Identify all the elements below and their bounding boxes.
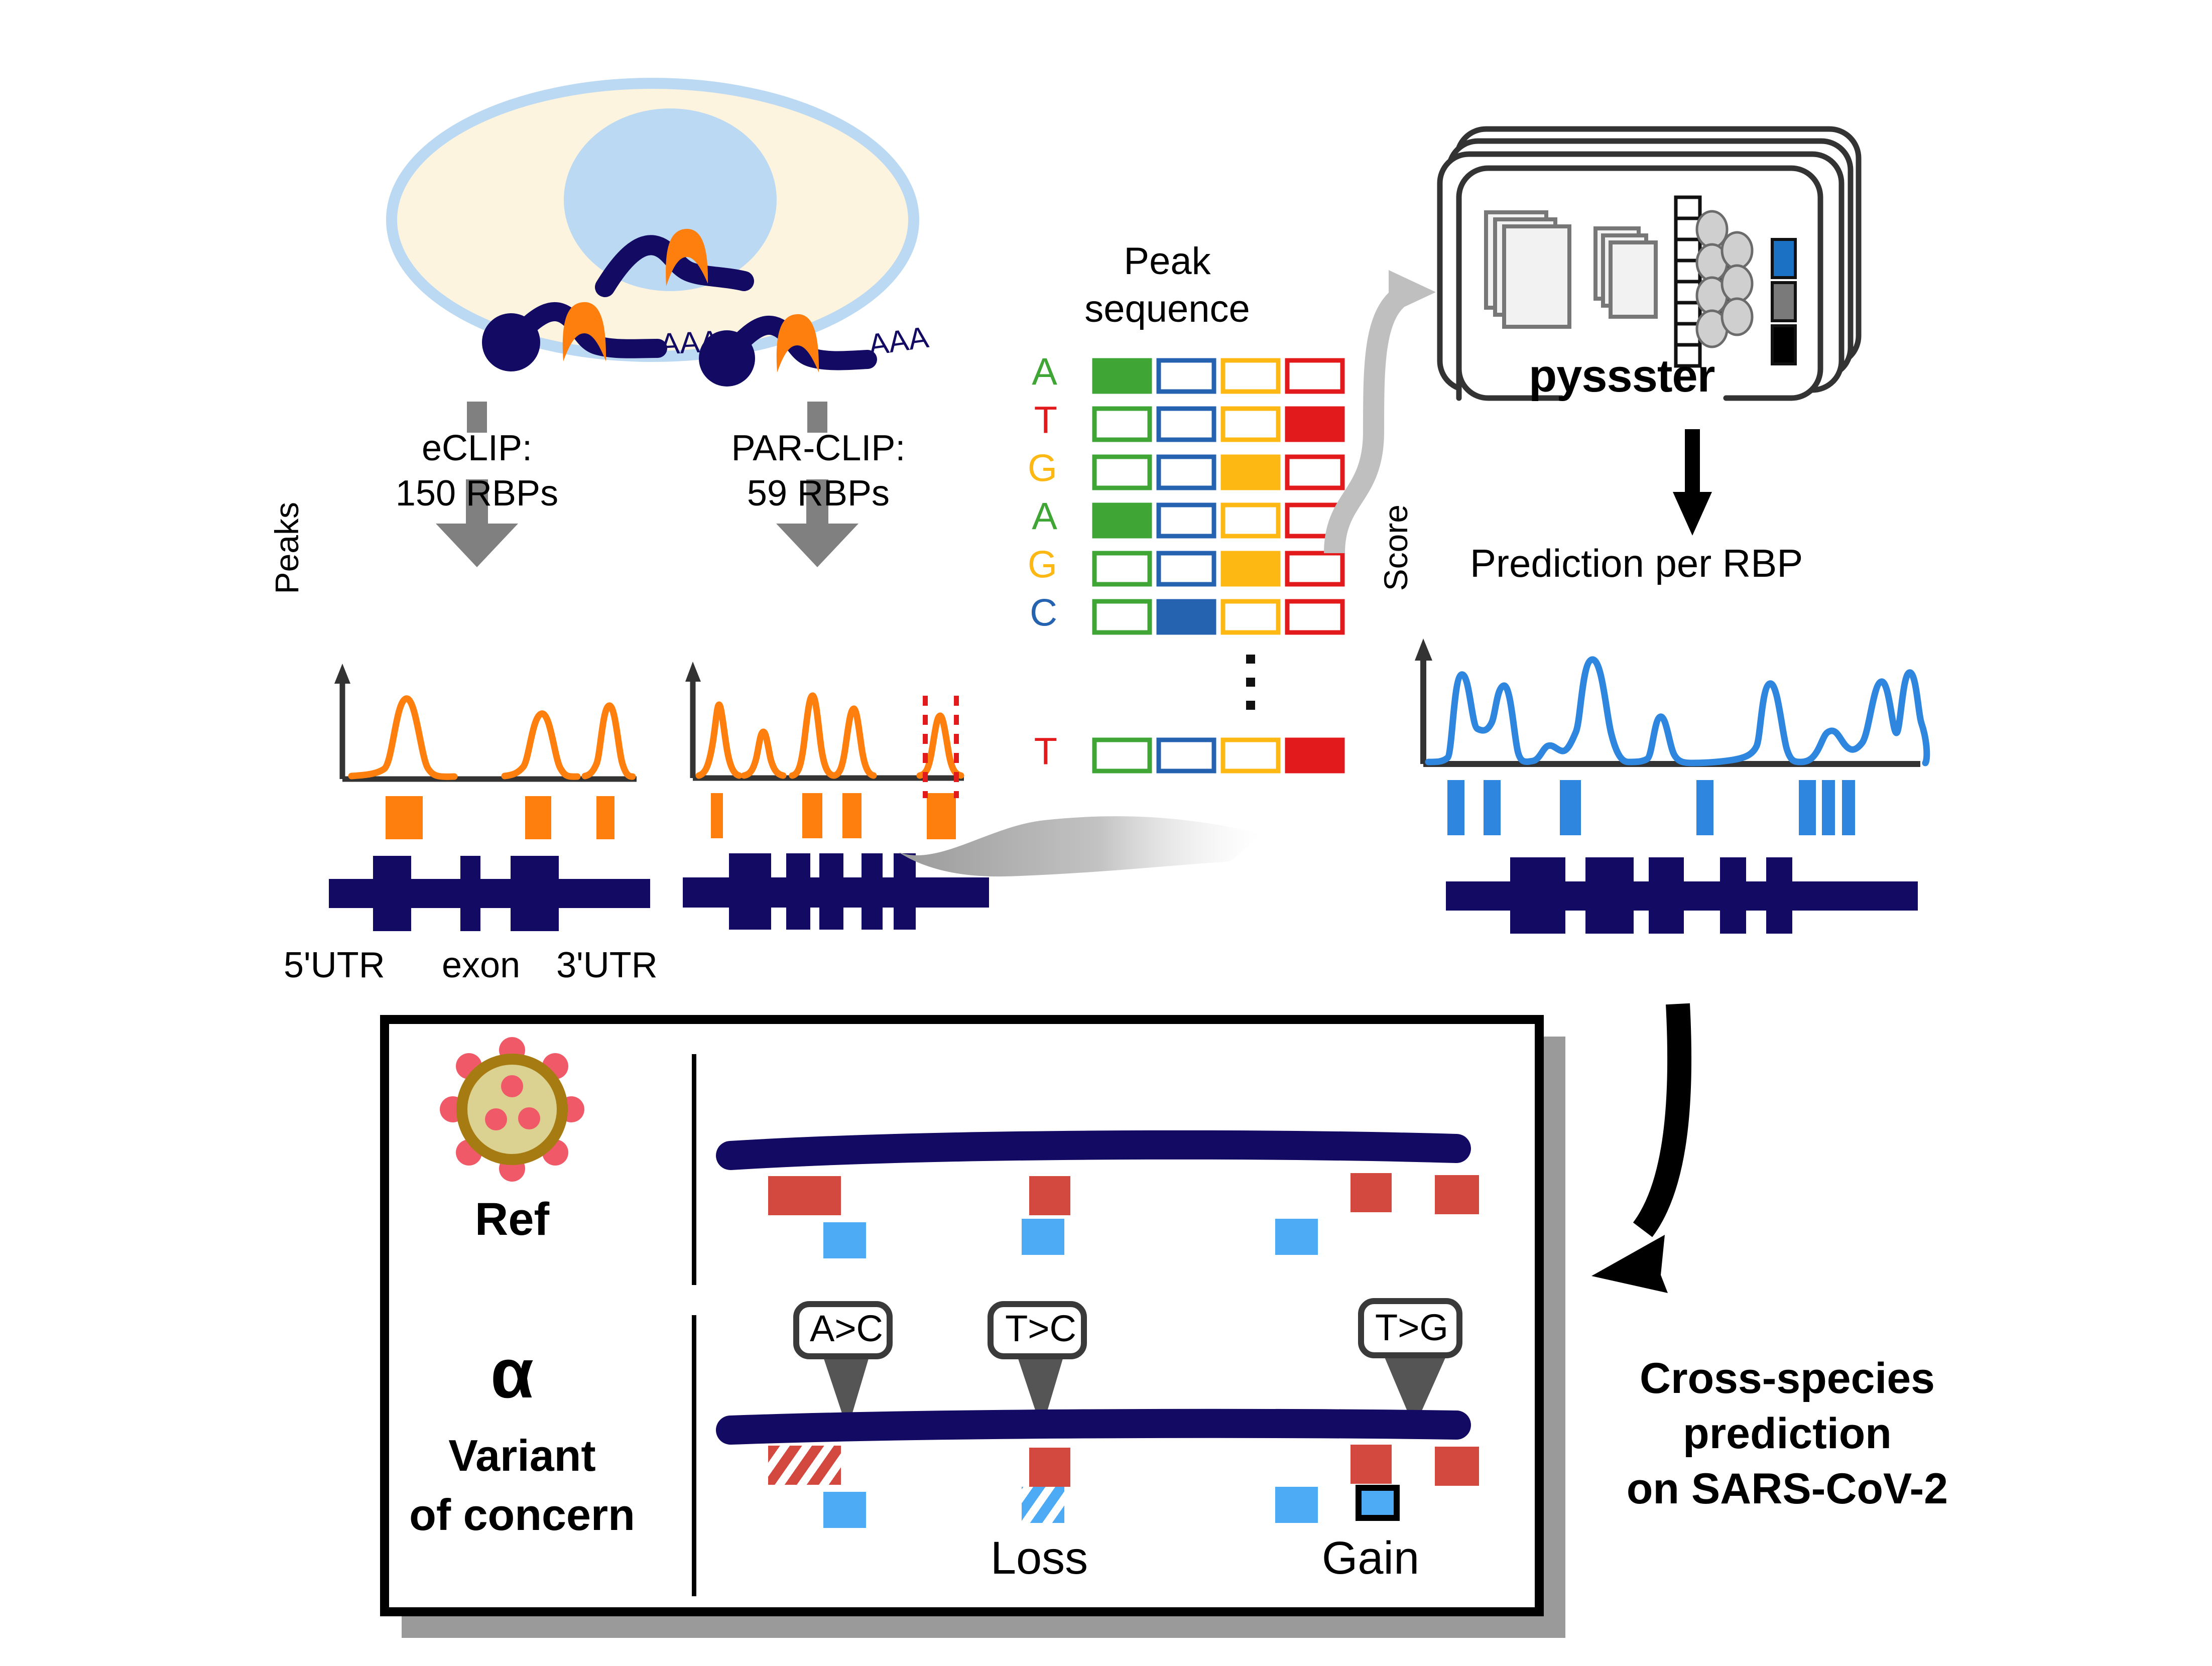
exon-3utr	[511, 856, 559, 931]
variant-label-line1: Variant	[417, 1432, 628, 1479]
variant-label-line2: of concern	[402, 1491, 643, 1539]
legend-gain: Gain	[1290, 1533, 1451, 1583]
ref-blue-bar	[1022, 1219, 1064, 1255]
ref-blue-bar	[1275, 1219, 1318, 1255]
virus-icon	[437, 1034, 587, 1185]
onehot-cell	[1094, 360, 1150, 392]
variant-blue-bar-hatched	[1022, 1487, 1064, 1523]
onehot-cell	[1223, 505, 1278, 536]
cross-species-line1: Cross-species	[1596, 1355, 1978, 1402]
parclip-label-line2: 59 RBPs	[683, 474, 954, 514]
onehot-cell	[1223, 740, 1278, 771]
onehot-cell	[1287, 740, 1342, 771]
variant-divider	[692, 1315, 696, 1596]
score-gene-model	[1446, 853, 1918, 939]
peak-sequence-matrix: ATGAGCT	[1014, 356, 1325, 768]
output-classes	[1772, 239, 1795, 364]
nucleotide-label: A	[1032, 350, 1057, 393]
score-curve	[1428, 660, 1927, 763]
eclip-axis-label: Peaks	[269, 502, 305, 653]
parclip-peak-bars	[711, 793, 956, 839]
prediction-arrow	[1652, 429, 1742, 537]
ref-red-bar	[768, 1176, 841, 1215]
score-peak-bars	[1447, 780, 1855, 835]
nucleotide-label: G	[1028, 447, 1057, 489]
onehot-cell	[1159, 601, 1214, 632]
parclip-highlight-bar	[927, 793, 956, 839]
onehot-cell	[1159, 740, 1214, 771]
prediction-label: Prediction per RBP	[1470, 542, 1803, 584]
onehot-cell	[1159, 457, 1214, 488]
onehot-cell	[1159, 505, 1214, 536]
peak-sequence-title-line1: Peak	[1059, 241, 1275, 282]
ref-label: Ref	[437, 1195, 587, 1244]
onehot-cell	[1159, 553, 1214, 584]
cross-species-line3: on SARS-CoV-2	[1589, 1466, 1986, 1512]
conv-layer-1	[1486, 212, 1569, 327]
ref-divider	[692, 1054, 696, 1285]
flatten-vector	[1676, 197, 1700, 366]
ref-red-bar	[1350, 1173, 1392, 1212]
onehot-cell	[1223, 601, 1278, 632]
eclip-label-line2: 150 RBPs	[351, 474, 602, 514]
matrix-ellipsis-dot	[1246, 701, 1255, 710]
gene-label-3utr: 3'UTR	[556, 946, 658, 985]
onehot-cell	[1159, 409, 1214, 440]
eclip-peak-track	[331, 653, 643, 843]
figure-root: AAA AAA eCLIP: 150 RBPs PAR-CLIP: 59 RBP…	[0, 0, 2212, 1666]
eclip-label-line1: eCLIP:	[351, 429, 602, 468]
mutation-label-tg: T>G	[1362, 1308, 1462, 1348]
onehot-cell	[1223, 457, 1278, 488]
matrix-ellipsis-dot	[1246, 655, 1255, 664]
variant-red-bar	[1350, 1445, 1392, 1484]
nucleotide-label: G	[1028, 543, 1057, 586]
variant-blue-bar	[1275, 1487, 1318, 1523]
onehot-cell	[1287, 601, 1342, 632]
variant-blue-bar-gain	[1356, 1485, 1400, 1521]
nucleotide-label: T	[1034, 730, 1057, 773]
ref-blue-bar	[823, 1222, 866, 1258]
virus-capsid	[462, 1059, 562, 1160]
exon-mid	[460, 856, 480, 931]
gene-label-5utr: 5'UTR	[284, 946, 385, 985]
mutation-label-tc: T>C	[991, 1309, 1091, 1349]
legend-loss: Loss	[959, 1533, 1120, 1583]
gene-label-exon: exon	[442, 946, 520, 985]
onehot-cell	[1094, 457, 1150, 488]
eclip-peak-curve	[351, 699, 633, 777]
ref-bars-layer	[0, 0, 1, 1]
onehot-cell	[1223, 409, 1278, 440]
ref-rna-strand	[715, 1129, 1473, 1170]
variant-red-bar	[1029, 1448, 1070, 1487]
onehot-cell	[1094, 740, 1150, 771]
matrix-ellipsis-dot	[1246, 678, 1255, 687]
eclip-axes	[334, 664, 637, 779]
nucleotide-label: A	[1032, 495, 1057, 538]
variant-red-bar-hatched	[768, 1446, 841, 1485]
peak-callout-fan	[969, 768, 1330, 939]
eclip-gene-model	[329, 851, 650, 936]
polyA-label-2: AAA	[866, 320, 930, 362]
score-track	[1413, 632, 1930, 833]
onehot-cell	[1159, 360, 1214, 392]
variant-blue-bar	[823, 1492, 866, 1528]
variant-rna-strand	[715, 1408, 1473, 1448]
variant-red-bar	[1435, 1447, 1479, 1486]
ref-red-bar	[1435, 1175, 1479, 1214]
exon-5utr	[373, 856, 411, 931]
nucleotide-label: T	[1034, 399, 1057, 441]
eclip-peak-bars	[386, 796, 615, 839]
cross-species-arrow	[1586, 994, 1858, 1345]
onehot-cell	[1223, 360, 1278, 392]
parclip-label-line1: PAR-CLIP:	[683, 429, 954, 468]
onehot-cell	[1094, 409, 1150, 440]
mutation-label-ac: A>C	[796, 1309, 897, 1349]
onehot-cell	[1094, 505, 1150, 536]
cross-species-line2: prediction	[1596, 1411, 1978, 1457]
variant-alpha-symbol: α	[437, 1335, 587, 1411]
ref-red-bar	[1029, 1176, 1070, 1215]
pyssster-label: pyssster	[1529, 351, 1714, 401]
onehot-cell	[1094, 553, 1150, 584]
onehot-cell	[1094, 601, 1150, 632]
nucleotide-label: C	[1030, 591, 1057, 634]
peak-sequence-title-line2: sequence	[1029, 289, 1305, 330]
score-axis-label: Score	[1378, 504, 1414, 650]
conv-layer-2	[1595, 228, 1656, 317]
parclip-peak-track	[683, 653, 1004, 843]
parclip-peak-curve	[699, 696, 961, 776]
cell-illustration: AAA AAA	[387, 80, 919, 361]
onehot-cell	[1223, 553, 1278, 584]
